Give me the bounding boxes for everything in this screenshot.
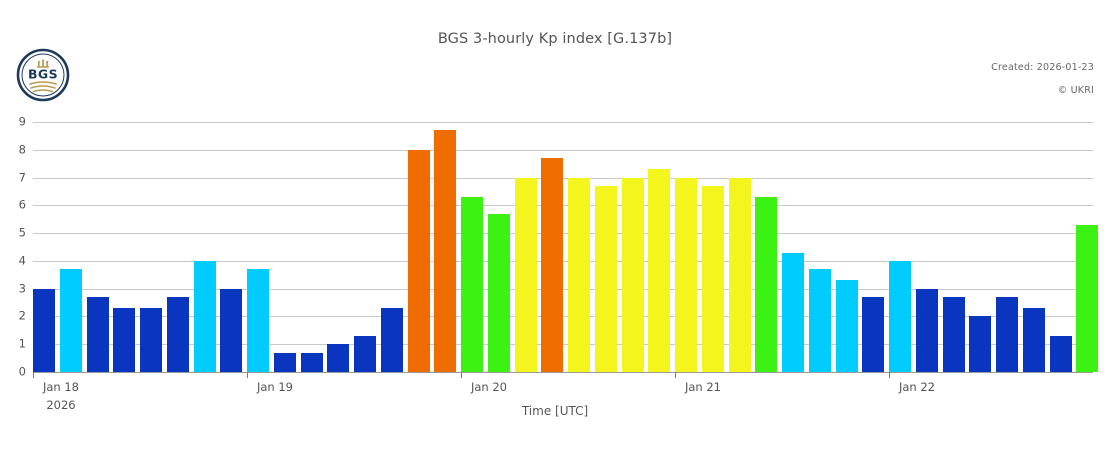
bar (648, 169, 670, 372)
bar (247, 269, 269, 372)
bar (916, 289, 938, 372)
x-axis-tick-mark (247, 372, 248, 378)
bar (274, 353, 296, 372)
y-axis-tick-label: 6 (19, 200, 26, 212)
bar (622, 178, 644, 372)
bar (381, 308, 403, 372)
svg-text:BGS: BGS (28, 67, 58, 82)
y-axis-tick-label: 5 (19, 227, 26, 239)
bar (755, 197, 777, 372)
bar (969, 316, 991, 372)
x-axis-tick-label: Jan 21 (685, 380, 721, 394)
chart-title: BGS 3-hourly Kp index [G.137b] (0, 31, 1110, 47)
bar (461, 197, 483, 372)
y-axis-tick-label: 8 (19, 144, 26, 156)
bar (943, 297, 965, 372)
x-axis-line (33, 372, 1093, 373)
bar (220, 289, 242, 372)
bar (782, 253, 804, 372)
bar (889, 261, 911, 372)
bar (541, 158, 563, 372)
bar (140, 308, 162, 372)
bar (327, 344, 349, 372)
x-axis-label: Time [UTC] (0, 404, 1110, 418)
bar (488, 214, 510, 372)
bar (675, 178, 697, 372)
x-axis-tick-mark (889, 372, 890, 378)
bar (1050, 336, 1072, 372)
x-axis-tick-label: Jan 22 (899, 380, 935, 394)
y-axis-tick-label: 7 (19, 172, 26, 184)
x-axis-tick-mark (461, 372, 462, 378)
bar (595, 186, 617, 372)
x-axis-tick-mark (33, 372, 34, 378)
y-axis-tick-label: 2 (19, 311, 26, 323)
bar (568, 178, 590, 372)
bar (354, 336, 376, 372)
y-axis-tick-label: 0 (19, 366, 26, 378)
bar (167, 297, 189, 372)
bar (862, 297, 884, 372)
bgs-logo-icon: BGS (16, 48, 70, 102)
bar (809, 269, 831, 372)
y-axis-tick-label: 4 (19, 255, 26, 267)
plot-area: 0123456789 (33, 122, 1093, 372)
bar (194, 261, 216, 372)
x-axis-tick-label: Jan 20 (471, 380, 507, 394)
bar (434, 130, 456, 372)
bar (60, 269, 82, 372)
bar (1076, 225, 1098, 372)
bar (113, 308, 135, 372)
kp-index-chart: BGS BGS 3-hourly Kp index [G.137b] Creat… (0, 0, 1110, 450)
bar (515, 178, 537, 372)
bar (1023, 308, 1045, 372)
x-axis-tick-mark (675, 372, 676, 378)
bar (301, 353, 323, 372)
bar (408, 150, 430, 372)
bar-series (33, 122, 1093, 372)
x-axis-tick-label: Jan 18 (43, 380, 79, 394)
bar (33, 289, 55, 372)
created-date: Created: 2026-01-23 (991, 62, 1094, 73)
copyright-notice: © UKRI (1058, 85, 1094, 96)
bar (729, 178, 751, 372)
y-axis-tick-label: 3 (19, 283, 26, 295)
bar (702, 186, 724, 372)
y-axis-tick-label: 9 (19, 116, 26, 128)
bar (87, 297, 109, 372)
bar (996, 297, 1018, 372)
bar (836, 280, 858, 372)
x-axis-tick-label: Jan 19 (257, 380, 293, 394)
y-axis-tick-label: 1 (19, 338, 26, 350)
bgs-logo: BGS (16, 48, 70, 102)
